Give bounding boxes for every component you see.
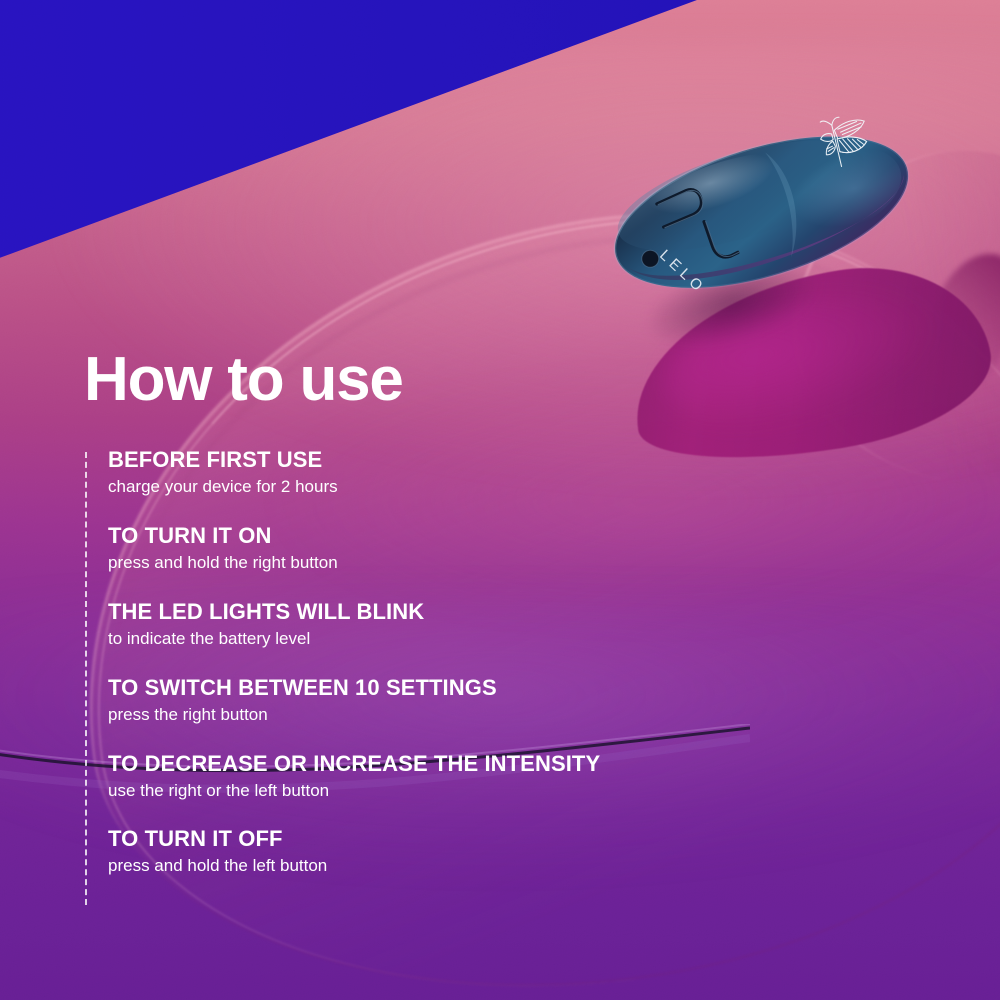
- promo-image: LELO: [0, 0, 1000, 1000]
- list-item: TO DECREASE OR INCREASE THE INTENSITY us…: [108, 751, 848, 803]
- list-item: TO TURN IT OFF press and hold the left b…: [108, 826, 848, 878]
- step-title: TO TURN IT OFF: [108, 826, 848, 852]
- step-description: press the right button: [108, 704, 848, 727]
- list-item: TO TURN IT ON press and hold the right b…: [108, 523, 848, 575]
- step-title: THE LED LIGHTS WILL BLINK: [108, 599, 848, 625]
- instructions-dashed-rule: [85, 452, 87, 905]
- step-title: TO TURN IT ON: [108, 523, 848, 549]
- text-overlay: How to use BEFORE FIRST USE charge your …: [0, 0, 1000, 1000]
- step-title: BEFORE FIRST USE: [108, 447, 848, 473]
- step-description: to indicate the battery level: [108, 628, 848, 651]
- list-item: BEFORE FIRST USE charge your device for …: [108, 447, 848, 499]
- list-item: TO SWITCH BETWEEN 10 SETTINGS press the …: [108, 675, 848, 727]
- instructions-list: BEFORE FIRST USE charge your device for …: [108, 447, 848, 878]
- step-description: press and hold the left button: [108, 855, 848, 878]
- list-item: THE LED LIGHTS WILL BLINK to indicate th…: [108, 599, 848, 651]
- page-title: How to use: [84, 349, 403, 411]
- step-description: use the right or the left button: [108, 780, 848, 803]
- step-title: TO SWITCH BETWEEN 10 SETTINGS: [108, 675, 848, 701]
- step-title: TO DECREASE OR INCREASE THE INTENSITY: [108, 751, 848, 777]
- step-description: charge your device for 2 hours: [108, 476, 848, 499]
- step-description: press and hold the right button: [108, 552, 848, 575]
